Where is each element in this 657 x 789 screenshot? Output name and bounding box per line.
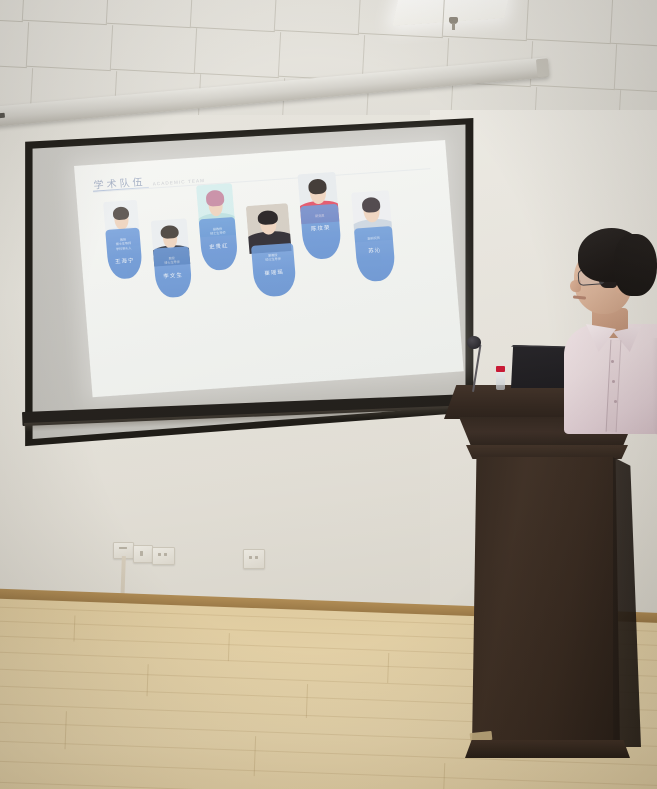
member-name: 陈坟荣 <box>311 224 331 233</box>
team-member-cards: 教授 博士生导师 学科带头人王海宁教授 博士生导师李文生副教授 硕士生导师史贵红… <box>74 140 464 397</box>
roller-end-cap <box>536 58 550 77</box>
ceiling-tile <box>195 27 281 77</box>
member-name: 李文生 <box>163 271 183 280</box>
water-bottle-1 <box>496 366 506 390</box>
projected-slide: 学术队伍 ACADEMIC TEAM 教授 博士生导师 学科带头人王海宁教授 博… <box>74 140 464 397</box>
ceiling-tile <box>527 0 613 45</box>
presenter-mouth <box>573 295 586 299</box>
ceiling-tile <box>275 0 361 35</box>
member-role: 副教授 硕士生导师 <box>210 227 226 237</box>
member-role: 教授 博士生导师 学科带头人 <box>115 237 132 251</box>
ceiling-tile <box>611 0 657 48</box>
microphone-icon <box>467 336 481 349</box>
wall-outlet-3[interactable] <box>152 547 175 565</box>
member-hair <box>160 224 178 239</box>
presenter-hair-back <box>614 234 657 296</box>
member-role: 研究员 <box>315 214 325 219</box>
lectern-base <box>465 740 630 758</box>
ceiling-tile <box>191 0 277 32</box>
lectern <box>425 385 657 789</box>
presenter-at-podium <box>556 228 657 428</box>
lectern-column <box>472 457 620 747</box>
projection-screen: 学术队伍 ACADEMIC TEAM 教授 博士生导师 学科带头人王海宁教授 博… <box>14 118 494 478</box>
floor-plank-seam <box>306 684 308 718</box>
roller-end-left <box>0 113 5 119</box>
ceiling-tile <box>279 31 365 81</box>
lectern-band <box>466 445 628 459</box>
member-shield: 副教授 硕士生导师崔瑶瑶 <box>251 243 297 298</box>
ceiling-tile <box>359 0 445 38</box>
wall-outlet-4[interactable] <box>243 549 265 569</box>
member-hair <box>308 178 327 194</box>
wall-outlet-2[interactable] <box>133 545 153 563</box>
member-name: 史贵红 <box>209 241 229 250</box>
member-role: 副研究员 <box>367 236 380 241</box>
ceiling-tile <box>111 24 197 74</box>
ceiling-tile <box>0 0 25 22</box>
ceiling-tile <box>443 0 529 41</box>
member-hair <box>257 210 278 226</box>
ceiling-tile <box>27 21 113 71</box>
floor-plank-seam <box>73 615 75 641</box>
floor-plank-seam <box>387 653 389 683</box>
member-role: 教授 博士生导师 <box>164 256 180 266</box>
lectern-side-shadow <box>613 457 641 747</box>
member-name: 王海宁 <box>115 256 135 265</box>
member-shield: 副研究员苏沁 <box>354 226 396 282</box>
ceiling-tile <box>0 18 29 68</box>
floor-plank-seam <box>228 633 230 661</box>
presentation-room-photo: 学术队伍 ACADEMIC TEAM 教授 博士生导师 学科带头人王海宁教授 博… <box>0 0 657 789</box>
member-role: 副教授 硕士生导师 <box>265 253 281 263</box>
member-name: 苏沁 <box>368 246 382 255</box>
member-name: 崔瑶瑶 <box>264 268 284 277</box>
member-hair <box>361 197 380 213</box>
member-hair <box>206 190 224 207</box>
ceiling-tile <box>615 43 657 93</box>
shirt-shading <box>652 338 657 436</box>
member-shield: 副教授 硕士生导师史贵红 <box>199 217 239 271</box>
member-shield: 教授 博士生导师 学科带头人王海宁 <box>105 228 143 280</box>
member-shield: 教授 博士生导师李文生 <box>153 246 193 298</box>
member-shield: 研究员陈坟荣 <box>300 204 342 260</box>
